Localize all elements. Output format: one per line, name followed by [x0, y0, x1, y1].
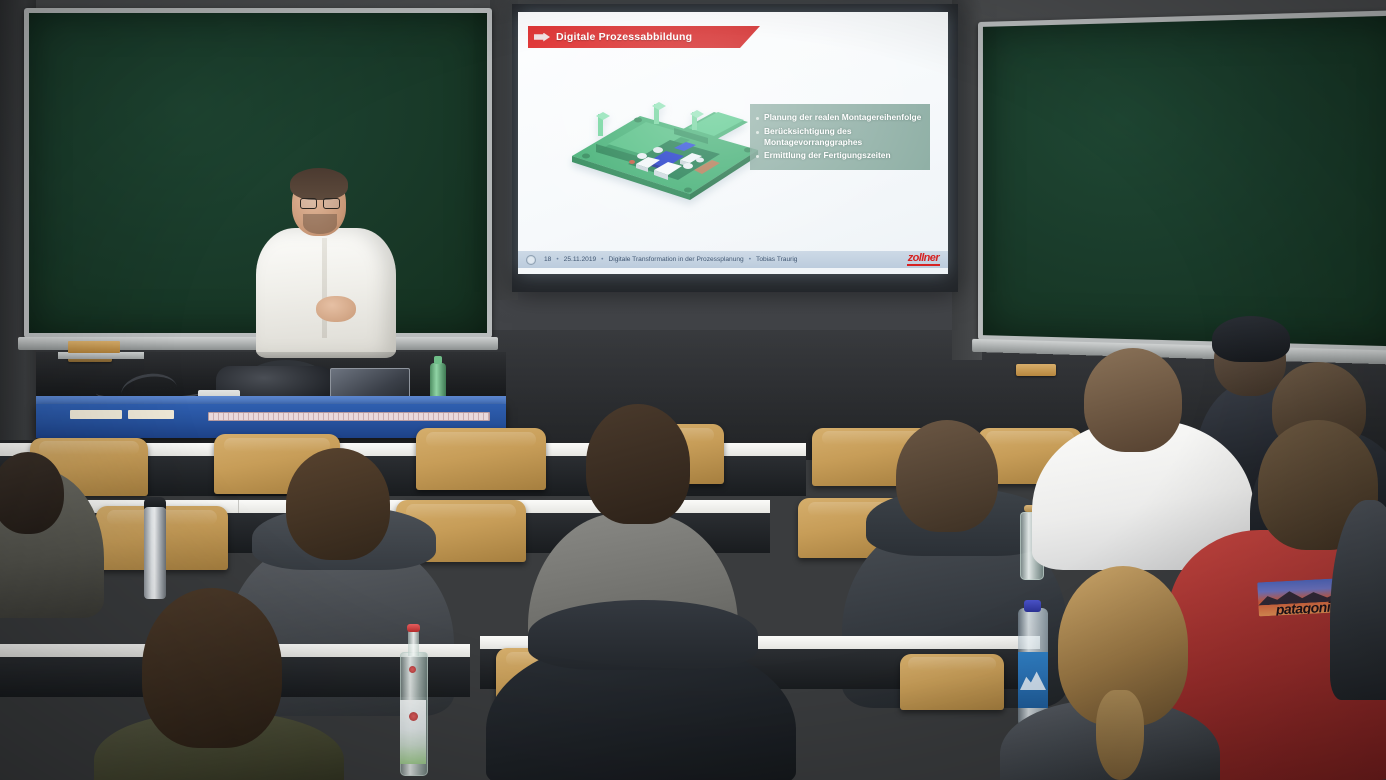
- slide-bullet-text: Berücksichtigung des Montagevorranggraph…: [764, 126, 922, 148]
- slide-footer: 18 • 25.11.2019 • Digitale Transformatio…: [518, 251, 948, 268]
- desk-seam: [238, 500, 239, 513]
- bottle-brand-mark: [409, 666, 416, 673]
- zollner-logo: zollner: [907, 253, 940, 265]
- glasses-lens-left: [300, 198, 317, 209]
- wall-shelf: [58, 352, 144, 359]
- bottle-label: [400, 700, 426, 764]
- slide-bullet-text: Planung der realen Montagereihenfolge: [764, 112, 921, 123]
- shelf-box: [68, 341, 120, 353]
- student-head: [142, 588, 282, 748]
- slide-bullet-item: Planung der realen Montagereihenfolge: [756, 112, 922, 123]
- chalkboard-surface: [983, 15, 1386, 346]
- student-head: [896, 420, 998, 532]
- slide-bullet-item: Berücksichtigung des Montagevorranggraph…: [756, 126, 922, 148]
- ponytail: [1096, 690, 1144, 780]
- slide-topic: Digitale Transformation in der Prozesspl…: [608, 256, 743, 263]
- slide-title-banner: Digitale Prozessabbildung: [528, 26, 760, 48]
- student-head: [1084, 348, 1182, 452]
- footer-separator: •: [601, 256, 603, 263]
- thermos: [144, 507, 166, 599]
- footer-separator: •: [749, 256, 751, 263]
- student-head: [586, 404, 690, 524]
- presentation-slide: Digitale Prozessabbildung: [518, 12, 948, 274]
- bottle-neck: [408, 630, 419, 656]
- slide-bullet-text: Ermittlung der Fertigungszeiten: [764, 150, 891, 161]
- bullet-dot-icon: [756, 131, 759, 134]
- bottle-cap: [1024, 600, 1041, 612]
- student-hood: [528, 600, 758, 670]
- beanie-hat: [1212, 316, 1290, 362]
- projection-screen: Digitale Prozessabbildung: [512, 4, 958, 292]
- slide-speaker: Tobias Traurig: [756, 256, 797, 263]
- slide-page-number: 18: [544, 256, 551, 263]
- slide-bullet-box: Planung der realen Montagereihenfolge Be…: [750, 104, 930, 170]
- glasses-icon: [300, 198, 340, 207]
- presenter-beard: [303, 214, 337, 234]
- slide-bullet-item: Ermittlung der Fertigungszeiten: [756, 150, 922, 161]
- student-head: [0, 452, 64, 534]
- presenter-shirt-placket: [322, 238, 327, 338]
- ruler: [208, 412, 490, 421]
- lecture-hall-photo: Digitale Prozessabbildung: [0, 0, 1386, 780]
- bullet-dot-icon: [756, 117, 759, 120]
- chair[interactable]: [416, 428, 546, 490]
- gear-icon: [526, 255, 536, 265]
- presenter-hands: [316, 296, 356, 322]
- paper-sheet: [128, 410, 174, 419]
- bottle-cap: [407, 624, 420, 632]
- chalkboard-right: [978, 10, 1386, 352]
- chair[interactable]: [900, 654, 1004, 710]
- paper-sheet: [70, 410, 122, 419]
- presenter-hair: [290, 168, 348, 200]
- arrow-icon: [534, 33, 550, 42]
- slide-date: 25.11.2019: [564, 256, 597, 263]
- student-head: [286, 448, 390, 560]
- slide-title: Digitale Prozessabbildung: [556, 31, 692, 43]
- chalk-eraser-icon: [1016, 364, 1056, 376]
- footer-separator: •: [556, 256, 558, 263]
- bottle-brand-mark: [409, 712, 418, 721]
- cad-model-figure: [562, 86, 768, 204]
- bullet-dot-icon: [756, 155, 759, 158]
- glasses-lens-right: [323, 198, 340, 209]
